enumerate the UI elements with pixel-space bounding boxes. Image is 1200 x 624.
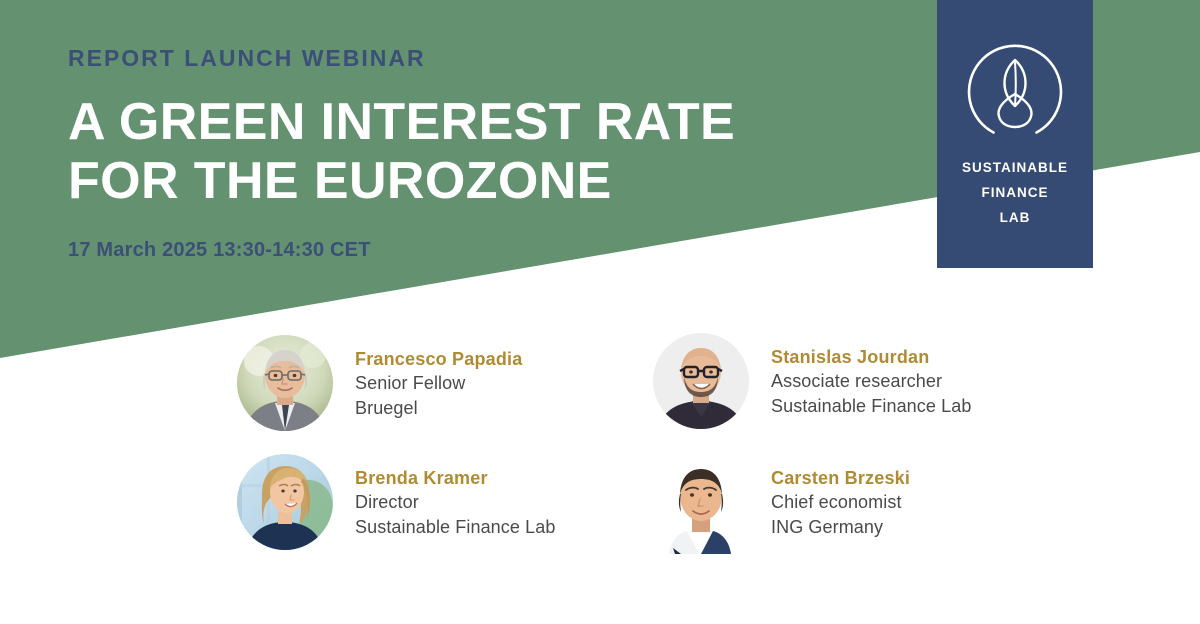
leaf-droplet-in-circle-icon	[963, 36, 1067, 140]
page-title: A GREEN INTEREST RATE FOR THE EUROZONE	[68, 93, 735, 211]
speaker-role: Senior Fellow	[355, 371, 522, 396]
page-title-line-1: A GREEN INTEREST RATE	[68, 93, 735, 152]
headline-block: REPORT LAUNCH WEBINAR A GREEN INTEREST R…	[68, 46, 735, 262]
speaker-name: Francesco Papadia	[355, 347, 522, 371]
speaker-organization: Sustainable Finance Lab	[355, 515, 555, 540]
eyebrow-label: REPORT LAUNCH WEBINAR	[68, 46, 735, 71]
avatar-stanislas-jourdan	[653, 333, 749, 429]
logo-wordmark: SUSTAINABLE FINANCE LAB	[962, 156, 1068, 231]
speaker-name: Brenda Kramer	[355, 466, 555, 490]
sustainable-finance-lab-logo-panel: SUSTAINABLE FINANCE LAB	[937, 0, 1093, 268]
speaker-card: Carsten Brzeski Chief economist ING Germ…	[653, 454, 910, 550]
page-title-line-2: FOR THE EUROZONE	[68, 152, 735, 211]
logo-wordmark-line-2: FINANCE	[962, 181, 1068, 206]
avatar-carsten-brzeski	[653, 454, 749, 550]
speaker-text: Francesco Papadia Senior Fellow Bruegel	[355, 335, 522, 421]
speaker-role: Director	[355, 490, 555, 515]
speakers-grid: Francesco Papadia Senior Fellow Bruegel	[0, 330, 1200, 590]
speaker-card: Brenda Kramer Director Sustainable Finan…	[237, 454, 555, 550]
logo-wordmark-line-1: SUSTAINABLE	[962, 156, 1068, 181]
speaker-role: Associate researcher	[771, 369, 971, 394]
speaker-name: Carsten Brzeski	[771, 466, 910, 490]
speaker-organization: Sustainable Finance Lab	[771, 394, 971, 419]
avatar-brenda-kramer	[237, 454, 333, 550]
speaker-text: Brenda Kramer Director Sustainable Finan…	[355, 454, 555, 540]
speaker-card: Francesco Papadia Senior Fellow Bruegel	[237, 335, 522, 431]
logo-wordmark-line-3: LAB	[962, 206, 1068, 231]
avatar-francesco-papadia	[237, 335, 333, 431]
speaker-organization: ING Germany	[771, 515, 910, 540]
speaker-name: Stanislas Jourdan	[771, 345, 971, 369]
speaker-role: Chief economist	[771, 490, 910, 515]
speaker-card: Stanislas Jourdan Associate researcher S…	[653, 333, 971, 429]
event-datetime: 17 March 2025 13:30-14:30 CET	[68, 239, 735, 262]
speaker-organization: Bruegel	[355, 396, 522, 421]
speaker-text: Stanislas Jourdan Associate researcher S…	[771, 333, 971, 419]
speaker-text: Carsten Brzeski Chief economist ING Germ…	[771, 454, 910, 540]
